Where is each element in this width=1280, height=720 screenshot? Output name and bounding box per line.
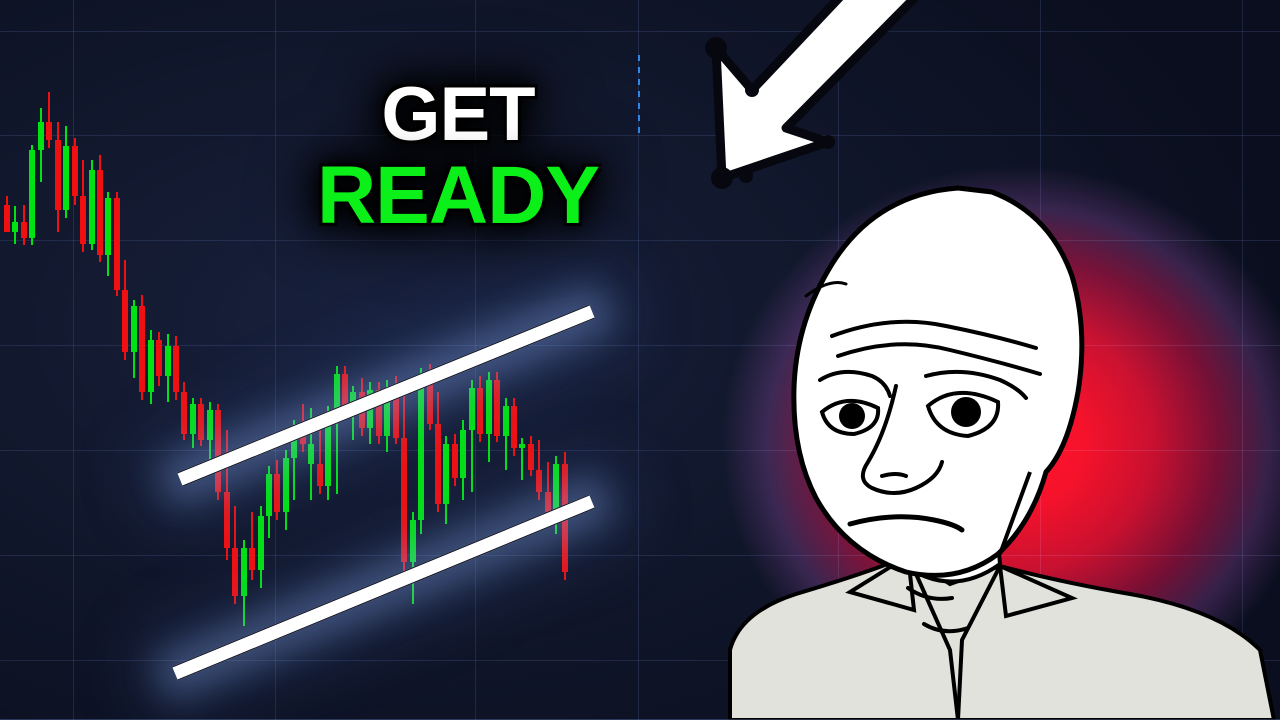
candle [12, 206, 18, 244]
candle-body [241, 548, 247, 596]
candle-body [545, 492, 551, 512]
candle [224, 430, 230, 560]
candle-body [519, 444, 525, 448]
candle-body [46, 122, 52, 140]
candle-body [452, 444, 458, 478]
candle-body [38, 122, 44, 150]
red-glow-backdrop [640, 40, 1280, 720]
candle-body [469, 388, 475, 430]
candle [72, 138, 78, 205]
candle-body [72, 146, 78, 196]
candle [148, 330, 154, 404]
candle-body [274, 474, 280, 512]
candle-body [97, 170, 103, 255]
candle-body [105, 198, 111, 255]
candle-body [63, 146, 69, 210]
candle [139, 295, 145, 400]
candle-body [536, 470, 542, 492]
candle-body [460, 430, 466, 478]
headline-text-block: GET READY [262, 78, 654, 237]
candle-body [283, 458, 289, 512]
headline-line-ready: READY [262, 156, 654, 236]
candle [38, 108, 44, 182]
candle [334, 366, 340, 494]
candle-body [131, 306, 137, 352]
candle [401, 388, 407, 584]
candle-body [4, 205, 10, 232]
candle [519, 438, 525, 480]
candle [241, 540, 247, 626]
candle [486, 372, 492, 462]
candle-body [80, 196, 86, 244]
candle [55, 122, 61, 232]
candle [249, 512, 255, 580]
candle [190, 398, 196, 448]
candle-body [418, 376, 424, 520]
candle-body [29, 150, 35, 238]
candle-body [55, 140, 61, 210]
candle-body [553, 464, 559, 512]
candle [156, 332, 162, 386]
candle [105, 192, 111, 276]
candle-body [486, 380, 492, 434]
candle-body [224, 492, 230, 548]
candle [46, 92, 52, 148]
candle [528, 436, 534, 476]
candle [367, 382, 373, 444]
candle-body [443, 444, 449, 504]
candle-body [410, 520, 416, 562]
candle [418, 368, 424, 534]
candle-body [122, 290, 128, 352]
candle-body [215, 410, 221, 492]
candle [131, 300, 137, 378]
candle [274, 460, 280, 520]
candle [97, 155, 103, 262]
candle [63, 126, 69, 218]
candle-body [494, 380, 500, 436]
candle-body [249, 548, 255, 570]
candle-body [114, 198, 120, 290]
candle [258, 506, 264, 588]
candle [503, 398, 509, 470]
candle-body [190, 404, 196, 434]
candle [317, 430, 323, 494]
candle-body [232, 548, 238, 596]
candle [29, 145, 35, 245]
candle [215, 404, 221, 500]
candle-body [165, 346, 171, 376]
candle [452, 434, 458, 486]
candle-body [148, 340, 154, 392]
candle-body [477, 388, 483, 434]
candle [494, 372, 500, 442]
candle-body [173, 346, 179, 392]
candle-body [317, 464, 323, 486]
candle [266, 466, 272, 538]
candle [181, 382, 187, 440]
candle-body [308, 444, 314, 464]
candle-body [139, 306, 145, 392]
candle [469, 380, 475, 492]
candle [435, 392, 441, 512]
candle [443, 436, 449, 524]
candle-body [21, 222, 27, 238]
candle [21, 205, 27, 245]
candle-body [511, 406, 517, 448]
candle-body [89, 170, 95, 244]
thumbnail-canvas: GET READY [0, 0, 1280, 720]
candle-body [207, 410, 213, 440]
candle [89, 160, 95, 250]
candle-body [156, 340, 162, 376]
headline-line-get: GET [262, 78, 654, 152]
candle-body [435, 424, 441, 504]
candle [283, 450, 289, 530]
candle-body [181, 392, 187, 434]
candle-body [258, 516, 264, 570]
candle [122, 260, 128, 360]
candle [114, 192, 120, 296]
candle [536, 440, 542, 500]
candle [173, 336, 179, 400]
candle [198, 398, 204, 446]
candle [165, 334, 171, 402]
candle [80, 160, 86, 252]
candle-body [198, 404, 204, 440]
candle-body [401, 438, 407, 562]
candle-body [528, 444, 534, 470]
candle-body [266, 474, 272, 516]
candle [477, 376, 483, 442]
candle [232, 506, 238, 604]
candle [460, 420, 466, 500]
candle-body [503, 406, 509, 436]
candle-body [12, 222, 18, 232]
candle [410, 512, 416, 604]
candle [511, 398, 517, 456]
candle [4, 196, 10, 232]
